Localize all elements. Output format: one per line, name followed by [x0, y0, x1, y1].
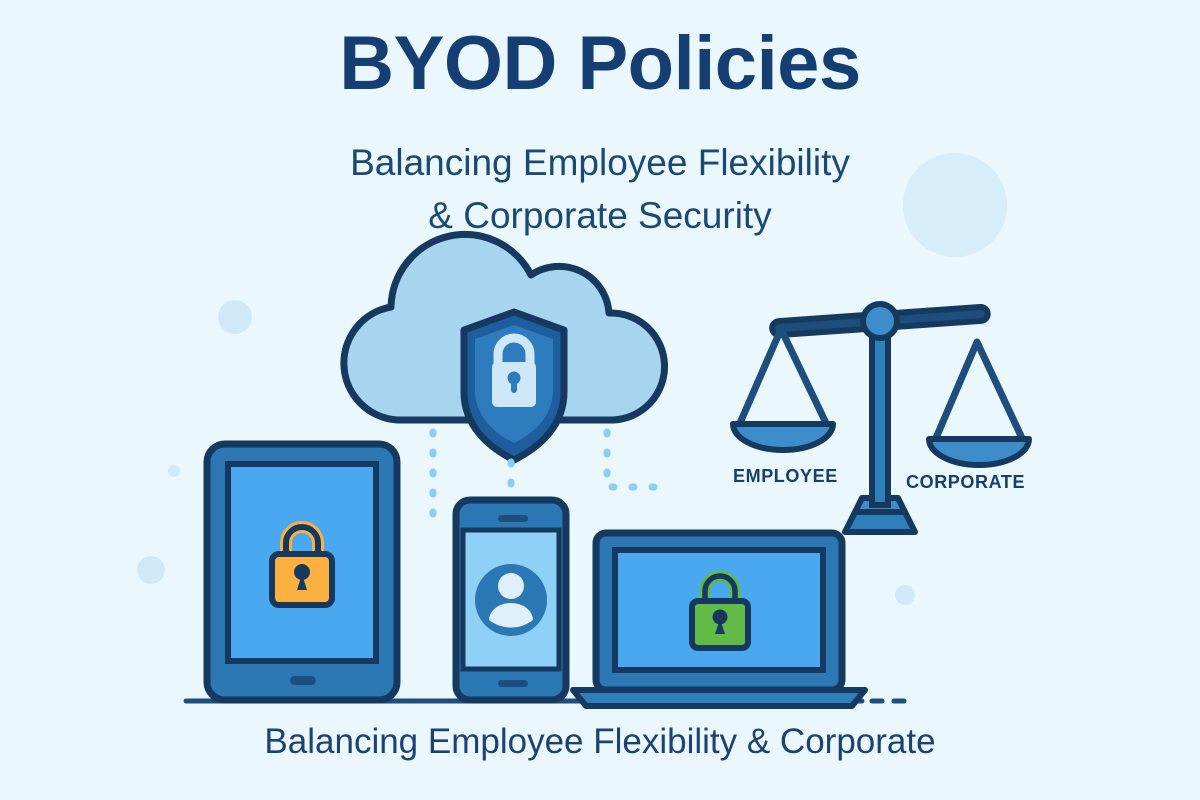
- phone-earpiece: [498, 515, 528, 522]
- phone-home-button[interactable]: [498, 680, 528, 687]
- illustration: [0, 0, 1200, 800]
- scale-column: [872, 320, 888, 505]
- scale-dish-right: [929, 439, 1029, 465]
- cloud-group: [344, 234, 665, 460]
- scale-pan-left: [733, 329, 833, 450]
- laptop-base: [573, 690, 865, 706]
- scale-strings-left: [740, 329, 826, 423]
- shield-lock-icon: [464, 312, 564, 460]
- scale-strings-right: [936, 342, 1022, 438]
- device-tablet[interactable]: [207, 444, 397, 700]
- connector-to-laptop: [607, 432, 660, 487]
- avatar-head: [498, 573, 524, 599]
- user-avatar-icon: [475, 564, 547, 636]
- byod-policies-infographic: BYOD Policies Balancing Employee Flexibi…: [0, 0, 1200, 800]
- scale-pan-right: [929, 342, 1029, 465]
- device-laptop[interactable]: [573, 533, 865, 706]
- scale-pivot: [863, 304, 897, 338]
- scale-dish-left: [733, 424, 833, 450]
- device-smartphone[interactable]: [456, 500, 566, 700]
- tablet-home-button[interactable]: [290, 676, 316, 685]
- shield-lock-keyslot: [511, 380, 517, 393]
- balance-scale-group: [733, 304, 1029, 532]
